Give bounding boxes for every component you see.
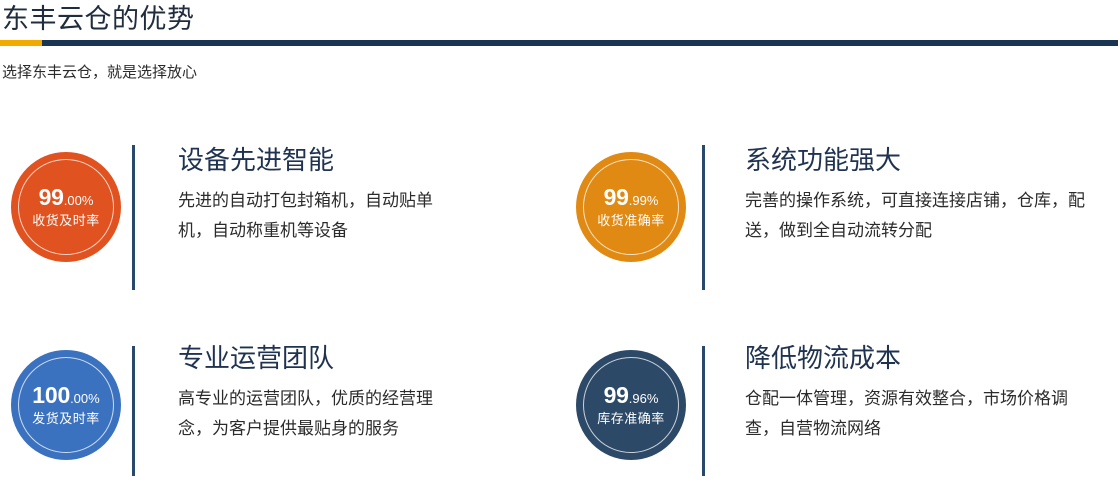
header-underline-accent bbox=[0, 40, 42, 46]
stat-badge-receiving-timeliness: 99 .00% 收货及时率 bbox=[11, 152, 121, 262]
stat-integer: 100 bbox=[32, 384, 70, 407]
stat-badge-shipping-timeliness: 100 .00% 发货及时率 bbox=[11, 350, 121, 460]
badge-wrap: 99 .99% 收货准确率 bbox=[560, 132, 702, 262]
header-underline bbox=[0, 40, 1118, 46]
stat-fraction: .96% bbox=[629, 392, 659, 405]
section-header: 东丰云仓的优势 选择东丰云仓，就是选择放心 bbox=[0, 0, 1118, 84]
card-body: 专业运营团队 高专业的运营团队，优质的经营理念，为客户提供最贴身的服务 bbox=[135, 330, 560, 444]
advantage-card-logistics-cost: 99 .96% 库存准确率 降低物流成本 仓配一体管理，资源有效整合，市场价格调… bbox=[560, 330, 1118, 476]
card-title: 系统功能强大 bbox=[745, 144, 1118, 176]
header-underline-base bbox=[42, 40, 1118, 46]
card-body: 系统功能强大 完善的操作系统，可直接连接店铺，仓库，配送，做到全自动流转分配 bbox=[705, 132, 1118, 246]
page-title: 东丰云仓的优势 bbox=[0, 0, 1118, 38]
card-description: 高专业的运营团队，优质的经营理念，为客户提供最贴身的服务 bbox=[178, 384, 460, 444]
stat-fraction: .00% bbox=[70, 392, 100, 405]
card-title: 专业运营团队 bbox=[178, 342, 560, 374]
card-body: 设备先进智能 先进的自动打包封箱机，自动贴单机，自动称重机等设备 bbox=[135, 132, 560, 246]
advantage-card-team: 100 .00% 发货及时率 专业运营团队 高专业的运营团队，优质的经营理念，为… bbox=[0, 330, 560, 476]
badge-wrap: 99 .96% 库存准确率 bbox=[560, 330, 702, 460]
card-title: 降低物流成本 bbox=[745, 342, 1118, 374]
badge-wrap: 100 .00% 发货及时率 bbox=[0, 330, 132, 460]
stat-badge-receiving-accuracy: 99 .99% 收货准确率 bbox=[576, 152, 686, 262]
stat-fraction: .00% bbox=[64, 194, 94, 207]
stat-value: 99 .00% bbox=[39, 186, 94, 209]
card-description: 完善的操作系统，可直接连接店铺，仓库，配送，做到全自动流转分配 bbox=[745, 186, 1091, 246]
advantages-page: 东丰云仓的优势 选择东丰云仓，就是选择放心 99 .00% 收货及时率 设备先进… bbox=[0, 0, 1118, 491]
stat-value: 100 .00% bbox=[32, 384, 99, 407]
stat-label: 库存准确率 bbox=[597, 411, 665, 427]
stat-label: 收货准确率 bbox=[597, 213, 665, 229]
stat-fraction: .99% bbox=[629, 194, 659, 207]
stat-value: 99 .99% bbox=[604, 186, 659, 209]
card-description: 先进的自动打包封箱机，自动贴单机，自动称重机等设备 bbox=[178, 186, 460, 246]
card-description: 仓配一体管理，资源有效整合，市场价格调查，自营物流网络 bbox=[745, 384, 1091, 444]
card-title: 设备先进智能 bbox=[178, 144, 560, 176]
advantage-card-equipment: 99 .00% 收货及时率 设备先进智能 先进的自动打包封箱机，自动贴单机，自动… bbox=[0, 132, 560, 330]
stat-integer: 99 bbox=[604, 186, 629, 209]
advantages-grid: 99 .00% 收货及时率 设备先进智能 先进的自动打包封箱机，自动贴单机，自动… bbox=[0, 132, 1118, 476]
advantage-card-system: 99 .99% 收货准确率 系统功能强大 完善的操作系统，可直接连接店铺，仓库，… bbox=[560, 132, 1118, 330]
page-subtitle: 选择东丰云仓，就是选择放心 bbox=[0, 62, 1118, 84]
badge-wrap: 99 .00% 收货及时率 bbox=[0, 132, 132, 262]
stat-label: 收货及时率 bbox=[32, 213, 100, 229]
stat-integer: 99 bbox=[604, 384, 629, 407]
card-body: 降低物流成本 仓配一体管理，资源有效整合，市场价格调查，自营物流网络 bbox=[705, 330, 1118, 444]
stat-value: 99 .96% bbox=[604, 384, 659, 407]
stat-integer: 99 bbox=[39, 186, 64, 209]
stat-label: 发货及时率 bbox=[32, 411, 100, 427]
stat-badge-inventory-accuracy: 99 .96% 库存准确率 bbox=[576, 350, 686, 460]
